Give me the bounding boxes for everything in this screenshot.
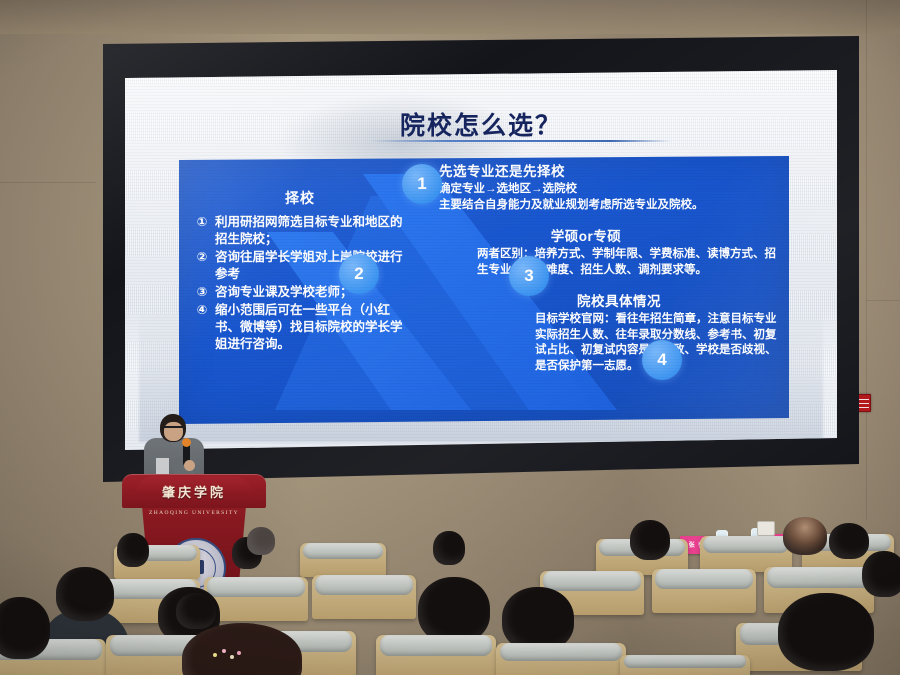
seat (652, 569, 756, 613)
list-marker: ④ (195, 302, 209, 353)
seat (376, 635, 496, 675)
seat-cushion (624, 655, 746, 668)
content-panel: 择校 ① 利用研招网筛选目标专业和地区的招生院校； ② 咨询往届学长学姐对上岸院… (179, 156, 789, 424)
step-number-3: 3 (509, 256, 549, 296)
audience-head (829, 523, 869, 559)
list-marker: ③ (195, 284, 209, 301)
audience-head (117, 533, 149, 567)
speaker-hand (184, 460, 195, 471)
seat (620, 655, 750, 675)
section-heading: 先选专业还是先择校 (435, 160, 781, 180)
audience-head (502, 587, 574, 651)
seat-cushion (380, 635, 493, 656)
audience-head (176, 593, 216, 629)
seat-cushion (315, 575, 413, 595)
list-item: ④ 缩小范围后可在一些平台（小红书、微博等）找目标院校的学长学姐进行咨询。 (195, 302, 405, 353)
audience-seating (0, 505, 900, 675)
speaker-shirt-logo (156, 458, 169, 474)
lecture-hall-photo: 院校怎么选？ 择校 ① 利用研招网筛选目标专业和地区的招生院校； ② 咨询往届学… (0, 0, 900, 675)
list-text: 咨询专业课及学校老师； (215, 284, 405, 301)
audience-head (783, 517, 827, 555)
glasses-icon (163, 426, 184, 433)
audience-head (247, 527, 275, 555)
seat-cushion (207, 577, 305, 597)
section-major-or-school: 先选专业还是先择校 确定专业→选地区→选院校 主要结合自身能力及就业规划考虑所选… (435, 160, 781, 213)
list-item: ① 利用研招网筛选目标专业和地区的招生院校； (195, 214, 405, 248)
seat (496, 643, 626, 675)
seat (300, 543, 386, 577)
seat-cushion (500, 643, 622, 661)
hairpin-accessory (230, 655, 234, 659)
seat-cushion (303, 543, 384, 559)
list-marker: ① (195, 214, 209, 248)
list-text: 利用研招网筛选目标专业和地区的招生院校； (215, 214, 405, 248)
hairpin-accessory (213, 653, 217, 657)
left-column-heading: 择校 (195, 188, 405, 208)
university-name-cn: 肇庆学院 (122, 482, 266, 501)
seat-cushion (655, 569, 753, 589)
seat-cushion (767, 567, 870, 588)
list-marker: ② (195, 249, 209, 283)
microphone-head-icon (182, 438, 191, 447)
step-number-1: 1 (402, 164, 442, 204)
seat-cushion (703, 536, 789, 553)
hairpin-accessory (222, 649, 226, 653)
hairpin-accessory (237, 651, 241, 655)
section-academic-vs-professional: 学硕or专硕 两者区别：培养方式、学制年限、学费标准、读博方式、招生专业、考试难… (435, 225, 781, 278)
section-body: 确定专业→选地区→选院校 主要结合自身能力及就业规划考虑所选专业及院校。 (435, 182, 781, 213)
section-heading: 学硕or专硕 (477, 225, 781, 245)
audience-head (418, 577, 490, 643)
seat-cushion (543, 571, 641, 591)
podium-header: 肇庆学院 (122, 474, 266, 508)
slide-title: 院校怎么选？ (125, 106, 837, 142)
title-underline (371, 140, 671, 142)
audience-head (0, 597, 50, 659)
step-number-4: 4 (642, 340, 682, 380)
audience-head (56, 567, 114, 621)
presentation-slide: 院校怎么选？ 择校 ① 利用研招网筛选目标专业和地区的招生院校； ② 咨询往届学… (125, 70, 837, 450)
audience-head (862, 551, 900, 597)
list-text: 缩小范围后可在一些平台（小红书、微博等）找目标院校的学长学姐进行咨询。 (215, 302, 405, 353)
seat (312, 575, 416, 619)
audience-head (778, 593, 874, 671)
audience-head (630, 520, 670, 560)
right-column: 先选专业还是先择校 确定专业→选地区→选院校 主要结合自身能力及就业规划考虑所选… (435, 160, 781, 386)
section-school-details: 院校具体情况 目标学校官网：看往年招生简章，注意目标专业实际招生人数、往年录取分… (435, 290, 781, 374)
step-number-2: 2 (339, 254, 379, 294)
section-heading: 院校具体情况 (517, 290, 781, 310)
audience-head (433, 531, 465, 565)
